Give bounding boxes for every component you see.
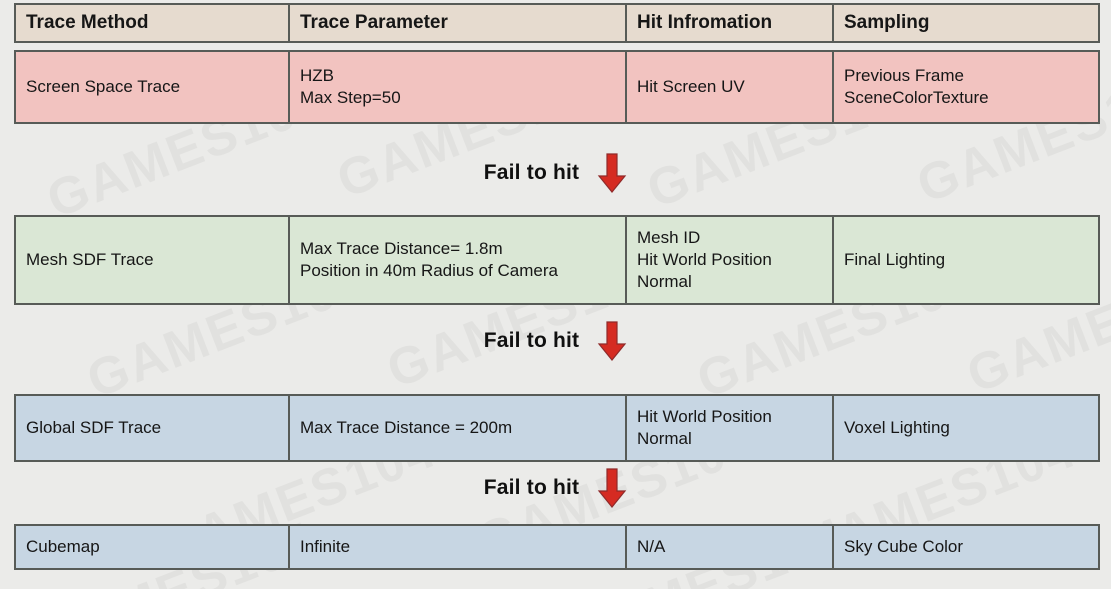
- cell-trace-method: Cubemap: [15, 525, 289, 569]
- cell-line: Global SDF Trace: [26, 417, 278, 439]
- table-header-row: Trace Method Trace Parameter Hit Infroma…: [15, 4, 1099, 42]
- trace-pipeline-diagram: Trace Method Trace Parameter Hit Infroma…: [0, 0, 1111, 589]
- cell-hit-information: Hit World Position Normal: [626, 395, 833, 461]
- cell-line: Screen Space Trace: [26, 76, 278, 98]
- cell-line: Max Step=50: [300, 87, 615, 109]
- cell-line: Hit World Position: [637, 249, 822, 271]
- table-header: Trace Method Trace Parameter Hit Infroma…: [14, 3, 1100, 43]
- cell-line: Max Trace Distance = 200m: [300, 417, 615, 439]
- cell-line: Sky Cube Color: [844, 536, 1088, 558]
- cell-line: Voxel Lighting: [844, 417, 1088, 439]
- column-header-sampling: Sampling: [833, 4, 1099, 42]
- cell-hit-information: N/A: [626, 525, 833, 569]
- cell-line: Hit World Position: [637, 406, 822, 428]
- cell-line: HZB: [300, 65, 615, 87]
- column-header-hit-information: Hit Infromation: [626, 4, 833, 42]
- table-row: Screen Space Trace HZB Max Step=50 Hit S…: [14, 50, 1100, 124]
- cell-line: Max Trace Distance= 1.8m: [300, 238, 615, 260]
- column-header-trace-parameter: Trace Parameter: [289, 4, 626, 42]
- cell-line: Cubemap: [26, 536, 278, 558]
- cell-line: Normal: [637, 271, 822, 293]
- cell-trace-method: Screen Space Trace: [15, 51, 289, 123]
- connector-fail-to-hit: Fail to hit: [0, 467, 1111, 509]
- row-screen-space-trace: Screen Space Trace HZB Max Step=50 Hit S…: [15, 51, 1099, 123]
- table-row: Cubemap Infinite N/A Sky Cube Color: [14, 524, 1100, 570]
- connector-fail-to-hit: Fail to hit: [0, 320, 1111, 362]
- row-mesh-sdf-trace: Mesh SDF Trace Max Trace Distance= 1.8m …: [15, 216, 1099, 304]
- cell-trace-method: Mesh SDF Trace: [15, 216, 289, 304]
- cell-line: Hit Screen UV: [637, 76, 822, 98]
- cell-line: Normal: [637, 428, 822, 450]
- row-cubemap: Cubemap Infinite N/A Sky Cube Color: [15, 525, 1099, 569]
- arrow-down-icon: [597, 320, 627, 362]
- table-row: Global SDF Trace Max Trace Distance = 20…: [14, 394, 1100, 462]
- cell-trace-parameter: HZB Max Step=50: [289, 51, 626, 123]
- table-row: Mesh SDF Trace Max Trace Distance= 1.8m …: [14, 215, 1100, 305]
- cell-trace-parameter: Max Trace Distance= 1.8m Position in 40m…: [289, 216, 626, 304]
- cell-hit-information: Mesh ID Hit World Position Normal: [626, 216, 833, 304]
- cell-sampling: Previous Frame SceneColorTexture: [833, 51, 1099, 123]
- cell-line: Mesh ID: [637, 227, 822, 249]
- cell-line: N/A: [637, 536, 822, 558]
- connector-fail-to-hit: Fail to hit: [0, 152, 1111, 194]
- cell-line: Infinite: [300, 536, 615, 558]
- cell-sampling: Sky Cube Color: [833, 525, 1099, 569]
- connector-label: Fail to hit: [484, 329, 580, 353]
- cell-sampling: Voxel Lighting: [833, 395, 1099, 461]
- cell-trace-parameter: Max Trace Distance = 200m: [289, 395, 626, 461]
- cell-line: SceneColorTexture: [844, 87, 1088, 109]
- cell-line: Mesh SDF Trace: [26, 249, 278, 271]
- cell-hit-information: Hit Screen UV: [626, 51, 833, 123]
- arrow-down-icon: [597, 467, 627, 509]
- cell-sampling: Final Lighting: [833, 216, 1099, 304]
- connector-label: Fail to hit: [484, 476, 580, 500]
- cell-line: Position in 40m Radius of Camera: [300, 260, 615, 282]
- column-header-trace-method: Trace Method: [15, 4, 289, 42]
- cell-trace-parameter: Infinite: [289, 525, 626, 569]
- row-global-sdf-trace: Global SDF Trace Max Trace Distance = 20…: [15, 395, 1099, 461]
- arrow-down-icon: [597, 152, 627, 194]
- cell-trace-method: Global SDF Trace: [15, 395, 289, 461]
- cell-line: Previous Frame: [844, 65, 1088, 87]
- cell-line: Final Lighting: [844, 249, 1088, 271]
- connector-label: Fail to hit: [484, 161, 580, 185]
